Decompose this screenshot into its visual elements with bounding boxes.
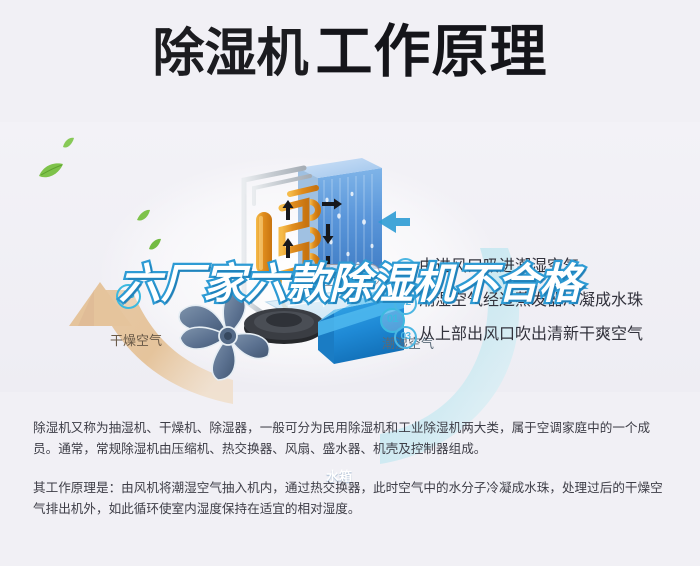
heat-exchanger-callout: 热交换器 bbox=[316, 264, 380, 286]
page-title-part1: 除湿机 bbox=[152, 25, 308, 83]
fan-blades-icon bbox=[168, 280, 288, 392]
legend-badge-02: 02 bbox=[394, 292, 417, 315]
legend-item: 02 潮湿空气经过蒸发器冷凝成水珠 bbox=[394, 290, 684, 324]
leaf-icon bbox=[148, 238, 162, 251]
leaf-icon bbox=[62, 137, 75, 149]
diagram-badge-03: 03 bbox=[116, 284, 141, 309]
legend-badge-01: 01 bbox=[394, 258, 417, 281]
page-title: 除湿机工作原理 bbox=[0, 24, 700, 81]
legend-item: 01 由进风口吸进潮湿空气 bbox=[394, 256, 684, 290]
body-paragraph-2: 其工作原理是：由风机将潮湿空气抽入机内，通过热交换器，此时空气中的水分子冷凝成水… bbox=[33, 478, 673, 520]
legend-badge-03: 03 bbox=[394, 326, 417, 349]
body-copy: 除湿机又称为抽湿机、干燥机、除湿器，一般可分为民用除湿机和工业除湿机两大类，属于… bbox=[33, 418, 673, 520]
body-paragraph-1: 除湿机又称为抽湿机、干燥机、除湿器，一般可分为民用除湿机和工业除湿机两大类，属于… bbox=[33, 418, 673, 460]
infographic-page: 除湿机工作原理 bbox=[0, 0, 700, 566]
legend-text-02: 潮湿空气经过蒸发器冷凝成水珠 bbox=[419, 290, 643, 312]
legend-text-03: 从上部出风口吹出清新干爽空气 bbox=[419, 324, 643, 346]
diagram-badge-02: 02 bbox=[292, 268, 317, 293]
leaf-icon bbox=[38, 162, 64, 180]
legend-text-01: 由进风口吸进潮湿空气 bbox=[419, 256, 579, 278]
page-title-part2: 工作原理 bbox=[316, 20, 548, 84]
legend-item: 03 从上部出风口吹出清新干爽空气 bbox=[394, 324, 684, 358]
steps-legend: 01 由进风口吸进潮湿空气 02 潮湿空气经过蒸发器冷凝成水珠 03 从上部出风… bbox=[394, 256, 684, 358]
dry-air-label: 干燥空气 bbox=[110, 330, 162, 349]
callout-tail-icon bbox=[336, 282, 348, 296]
air-intake-arrow-icon bbox=[378, 211, 410, 233]
leaf-icon bbox=[136, 209, 151, 222]
